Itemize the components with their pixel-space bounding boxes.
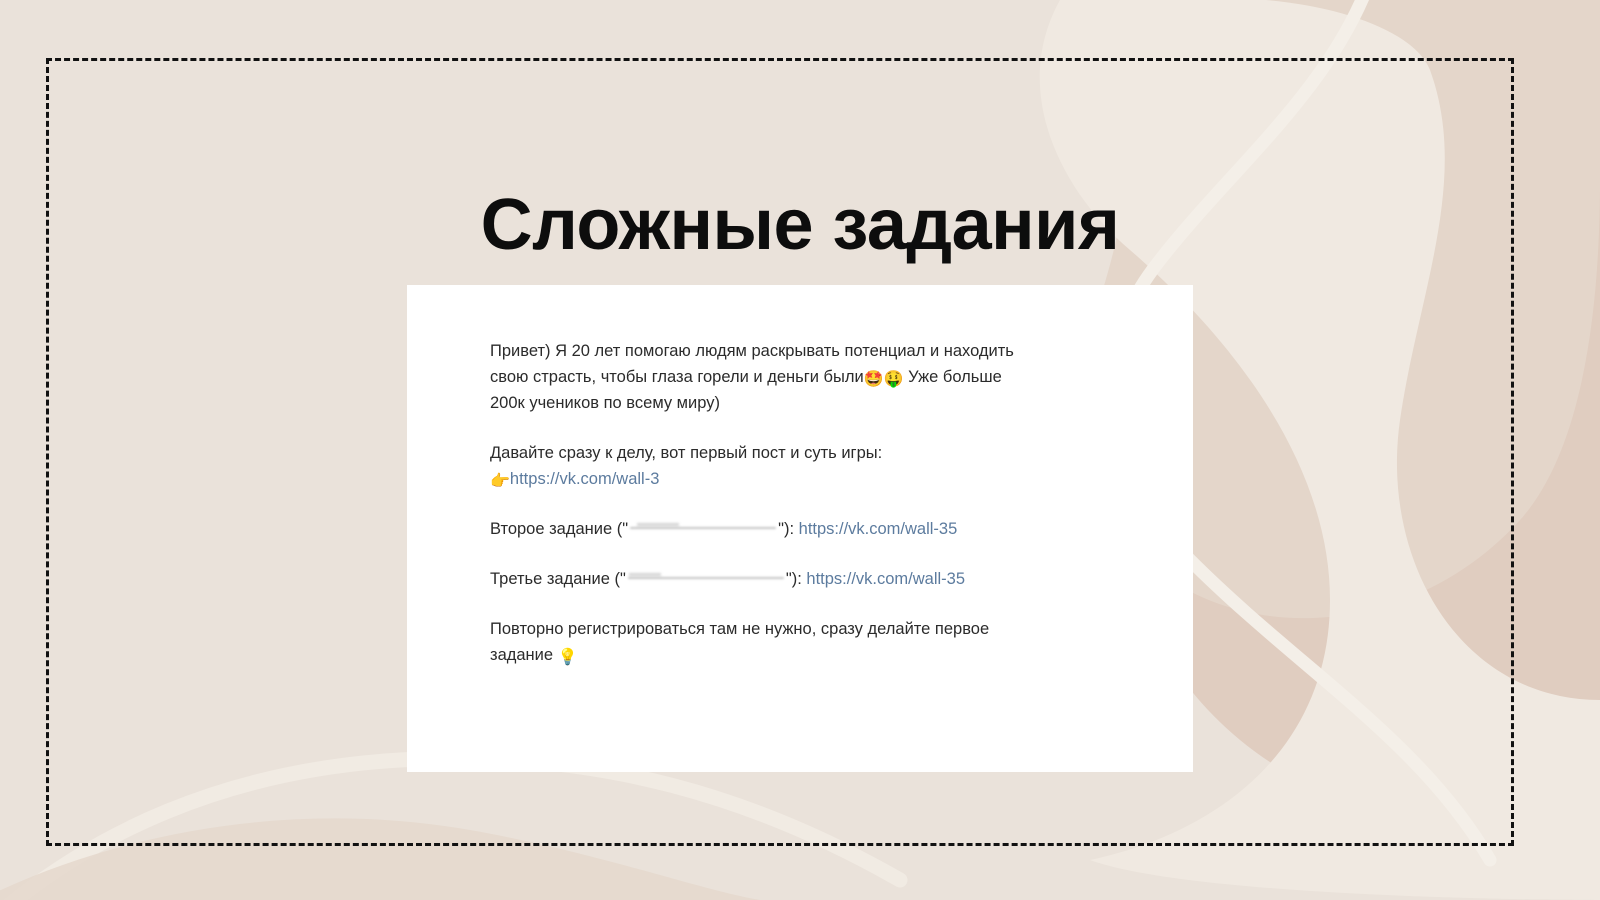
vk-wall-link-2[interactable]: https://vk.com/wall-35: [799, 520, 958, 538]
backhand-index-pointing-right-emoji: 👉: [490, 471, 510, 490]
post-paragraph-intro: Привет) Я 20 лет помогаю людям раскрыват…: [490, 338, 1030, 416]
post-text: Давайте сразу к делу, вот первый пост и …: [490, 444, 882, 462]
vk-wall-link-3[interactable]: https://vk.com/wall-35: [806, 570, 965, 588]
post-paragraph-first-task: Давайте сразу к делу, вот первый пост и …: [490, 440, 1030, 492]
post-paragraph-third-task: Третье задание (" "): https://vk.com/wal…: [490, 566, 1030, 592]
star-struck-emoji: 🤩: [864, 369, 884, 388]
light-bulb-emoji: 💡: [558, 647, 578, 666]
post-screenshot-card: Привет) Я 20 лет помогаю людям раскрыват…: [407, 285, 1193, 772]
post-paragraph-note: Повторно регистрироваться там не нужно, …: [490, 616, 1030, 668]
vk-wall-link-1[interactable]: https://vk.com/wall-3: [510, 470, 659, 488]
redacted-task-title-3: [626, 566, 786, 592]
money-mouth-face-emoji: 🤑: [884, 369, 904, 388]
page-title: Сложные задания: [0, 188, 1600, 264]
redacted-task-title-2: [628, 516, 778, 542]
post-paragraph-second-task: Второе задание (" "): https://vk.com/wal…: [490, 516, 1030, 542]
post-text: "):: [778, 520, 799, 538]
post-text-body: Привет) Я 20 лет помогаю людям раскрыват…: [490, 338, 1030, 668]
post-text: Второе задание (": [490, 520, 628, 538]
post-text: "):: [786, 570, 807, 588]
post-text: Третье задание (": [490, 570, 626, 588]
